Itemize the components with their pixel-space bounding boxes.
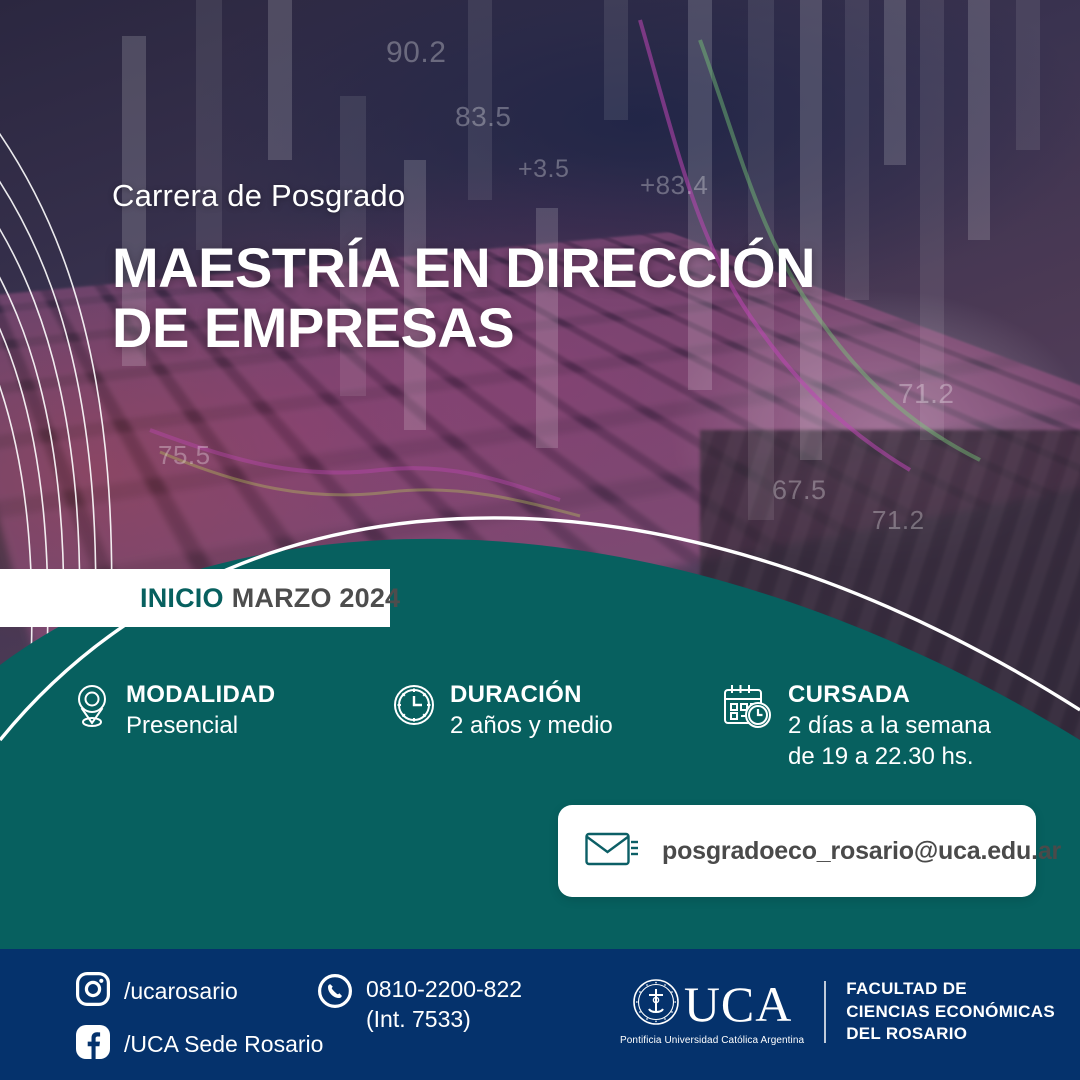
- info-detail: Presencial: [126, 710, 275, 741]
- info-heading: MODALIDAD: [126, 680, 275, 710]
- faculty-name: FACULTAD DE CIENCIAS ECONÓMICAS DEL ROSA…: [846, 978, 1055, 1045]
- background-number: 90.2: [386, 36, 446, 70]
- background-number: 71.2: [898, 378, 955, 410]
- location-pin-icon: [72, 682, 112, 733]
- start-date-value: MARZO 2024: [232, 583, 401, 614]
- background-number: 83.5: [455, 101, 512, 133]
- hero-eyebrow: Carrera de Posgrado: [112, 178, 872, 214]
- start-date-badge: INICIO MARZO 2024: [0, 569, 390, 627]
- info-detail: 2 años y medio: [450, 710, 613, 741]
- phone-number: 0810-2200-822: [366, 974, 522, 1004]
- info-item-cursada: CURSADA 2 días a la semana de 19 a 22.30…: [722, 680, 1032, 772]
- social-label: /ucarosario: [124, 978, 238, 1005]
- course-info-row: MODALIDAD Presencial DURACIÓN 2 años y m…: [72, 680, 1032, 772]
- instagram-icon: [76, 972, 110, 1011]
- envelope-icon: [584, 827, 640, 876]
- info-detail: 2 días a la semana de 19 a 22.30 hs.: [788, 710, 991, 772]
- clock-icon: [392, 682, 436, 733]
- poster-canvas: 90.283.5+3.5+83.475.571.267.571.2 Carrer…: [0, 0, 1080, 1080]
- uca-tagline: Pontificia Universidad Católica Argentin…: [620, 1035, 804, 1046]
- calendar-clock-icon: [722, 682, 774, 735]
- footer-logo-block: UCA Pontificia Universidad Católica Arge…: [620, 978, 1055, 1046]
- uca-seal-icon: [632, 978, 680, 1031]
- logo-divider: [824, 981, 826, 1043]
- title-line-1: MAESTRÍA EN DIRECCIÓN: [112, 238, 872, 298]
- facebook-icon: [76, 1025, 110, 1064]
- info-item-modalidad: MODALIDAD Presencial: [72, 680, 392, 772]
- phone-icon: [318, 974, 352, 1013]
- title-line-2: DE EMPRESAS: [112, 298, 872, 358]
- info-item-duracion: DURACIÓN 2 años y medio: [392, 680, 722, 772]
- info-heading: DURACIÓN: [450, 680, 613, 710]
- uca-wordmark: UCA: [684, 982, 793, 1027]
- uca-logo: UCA Pontificia Universidad Católica Arge…: [620, 978, 804, 1046]
- social-label: /UCA Sede Rosario: [124, 1031, 323, 1058]
- page-title: MAESTRÍA EN DIRECCIÓN DE EMPRESAS: [112, 238, 872, 359]
- footer-phone-block[interactable]: 0810-2200-822 (Int. 7533): [318, 974, 522, 1035]
- footer-social-links: /ucarosario /UCA Sede Rosario: [76, 972, 323, 1064]
- social-link-instagram[interactable]: /ucarosario: [76, 972, 323, 1011]
- email-contact-card[interactable]: posgradoeco_rosario@uca.edu.ar: [558, 805, 1036, 897]
- info-heading: CURSADA: [788, 680, 991, 710]
- hero-text-block: Carrera de Posgrado MAESTRÍA EN DIRECCIÓ…: [112, 178, 872, 359]
- phone-extension: (Int. 7533): [366, 1004, 522, 1034]
- start-date-keyword: INICIO: [140, 583, 224, 614]
- email-address: posgradoeco_rosario@uca.edu.ar: [662, 837, 1061, 866]
- social-link-facebook[interactable]: /UCA Sede Rosario: [76, 1025, 323, 1064]
